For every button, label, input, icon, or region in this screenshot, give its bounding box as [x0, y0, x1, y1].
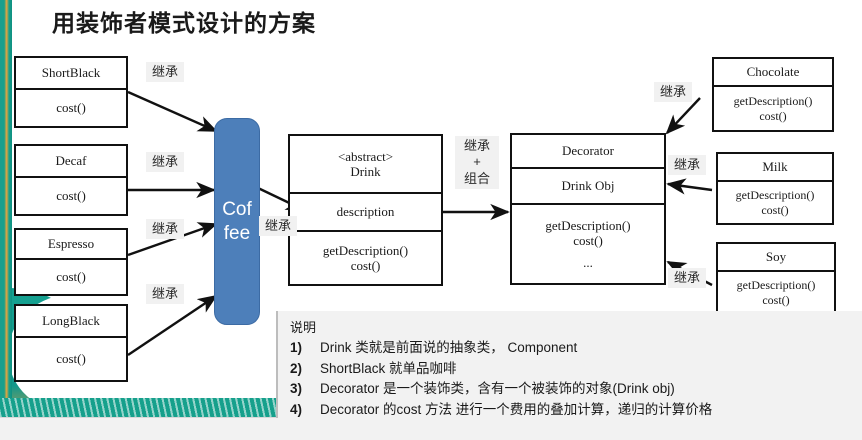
note-item-text: ShortBlack 就单品咖啡 [320, 359, 457, 380]
class-methods: getDescription() cost() [718, 270, 834, 313]
class-method: cost() [573, 233, 603, 248]
relation-label-inherit-decaf: 继承 [146, 152, 184, 172]
link-shortblack-to-coffee [128, 92, 216, 131]
class-method: cost() [762, 293, 789, 307]
link-longblack-to-coffee [128, 296, 216, 355]
class-name: Soy [718, 244, 834, 270]
link-chocolate-to-decorator [667, 98, 700, 133]
class-method: cost() [761, 203, 788, 217]
relation-label-inherit-shortblack: 继承 [146, 62, 184, 82]
class-name: Decaf [16, 146, 126, 176]
note-item-text: Decorator 的cost 方法 进行一个费用的叠加计算，递归的计算价格 [320, 400, 712, 421]
relation-label-inherit-compose: 继承 + 组合 [455, 136, 499, 189]
class-method: getDescription() [734, 94, 813, 108]
note-item-index: 1) [290, 338, 310, 359]
class-box-decorator[interactable]: Decorator Drink Obj getDescription() cos… [510, 133, 666, 285]
class-method: getDescription() [737, 278, 816, 292]
class-member: cost() [16, 88, 126, 126]
class-name: Drink [350, 164, 380, 179]
class-method: cost() [759, 109, 786, 123]
class-member: cost() [16, 176, 126, 214]
class-header: <abstract> Drink [290, 136, 441, 192]
explanation-note: 说明 1) Drink 类就是前面说的抽象类， Component 2) Sho… [276, 311, 862, 418]
class-member: cost() [16, 336, 126, 380]
class-methods: getDescription() cost() [290, 230, 441, 284]
class-field: description [290, 192, 441, 230]
class-name: Decorator [512, 135, 664, 167]
relation-label-inherit-chocolate: 继承 [654, 82, 692, 102]
note-item: 1) Drink 类就是前面说的抽象类， Component [290, 338, 852, 359]
class-method: getDescription() [545, 218, 630, 233]
relation-label-inherit-soy: 继承 [668, 268, 706, 288]
note-item: 4) Decorator 的cost 方法 进行一个费用的叠加计算，递归的计算价… [290, 400, 852, 421]
slide-canvas: 用装饰者模式设计的方案 [0, 0, 862, 440]
class-method: getDescription() [736, 188, 815, 202]
note-item-index: 2) [290, 359, 310, 380]
class-name: Espresso [16, 230, 126, 258]
page-bottom-strip [0, 417, 862, 440]
class-methods: getDescription() cost() ... [512, 203, 664, 283]
note-item: 2) ShortBlack 就单品咖啡 [290, 359, 852, 380]
class-box-drink[interactable]: <abstract> Drink description getDescript… [288, 134, 443, 286]
class-box-chocolate[interactable]: Chocolate getDescription() cost() [712, 57, 834, 132]
class-box-longblack[interactable]: LongBlack cost() [14, 304, 128, 382]
class-name: LongBlack [16, 306, 126, 336]
class-name: ShortBlack [16, 58, 126, 88]
class-box-milk[interactable]: Milk getDescription() cost() [716, 152, 834, 225]
class-name: Milk [718, 154, 832, 180]
relation-label-inherit-milk: 继承 [668, 155, 706, 175]
class-box-decaf[interactable]: Decaf cost() [14, 144, 128, 216]
class-method: ... [583, 255, 593, 270]
class-field: Drink Obj [512, 167, 664, 203]
relation-label-inherit-longblack: 继承 [146, 284, 184, 304]
class-box-espresso[interactable]: Espresso cost() [14, 228, 128, 296]
coffee-node-label: Coffee [222, 198, 252, 246]
class-box-soy[interactable]: Soy getDescription() cost() [716, 242, 836, 315]
coffee-node[interactable]: Coffee [214, 118, 260, 325]
note-item-index: 4) [290, 400, 310, 421]
class-methods: getDescription() cost() [718, 180, 832, 223]
relation-label-inherit-coffee-drink: 继承 [259, 216, 297, 236]
link-milk-to-decorator [668, 184, 712, 190]
slide-title: 用装饰者模式设计的方案 [52, 4, 316, 38]
class-name: Chocolate [714, 59, 832, 85]
class-method: getDescription() [323, 243, 408, 258]
class-method: cost() [351, 258, 381, 273]
template-left-edge-decoration [0, 0, 12, 418]
relation-label-inherit-espresso: 继承 [146, 219, 184, 239]
note-heading: 说明 [290, 317, 852, 336]
class-methods: getDescription() cost() [714, 85, 832, 130]
class-box-shortblack[interactable]: ShortBlack cost() [14, 56, 128, 128]
class-stereotype: <abstract> [338, 149, 393, 164]
note-list: 1) Drink 类就是前面说的抽象类， Component 2) ShortB… [290, 338, 852, 420]
note-item-text: Drink 类就是前面说的抽象类， Component [320, 338, 577, 359]
note-item: 3) Decorator 是一个装饰类，含有一个被装饰的对象(Drink obj… [290, 379, 852, 400]
class-member: cost() [16, 258, 126, 294]
note-item-index: 3) [290, 379, 310, 400]
note-item-text: Decorator 是一个装饰类，含有一个被装饰的对象(Drink obj) [320, 379, 675, 400]
